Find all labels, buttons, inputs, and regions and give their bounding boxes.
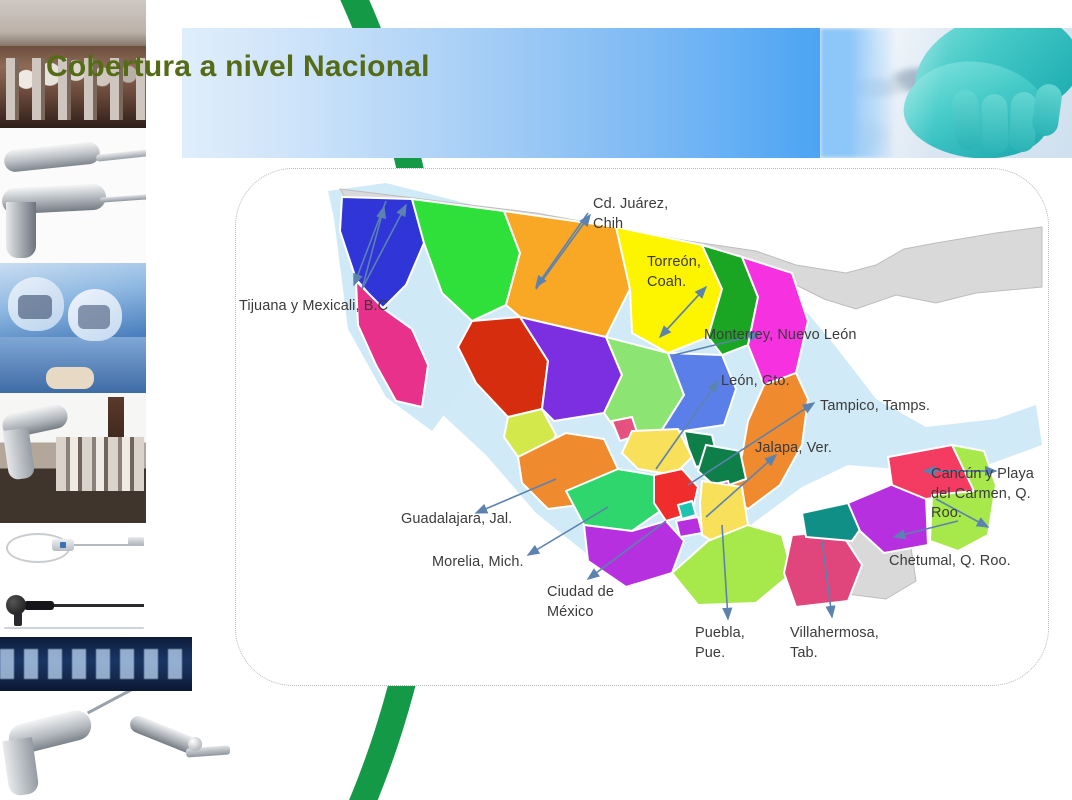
map-label-torreon: Torreón, Coah. [647, 253, 701, 292]
handpieces-bottom-photo [0, 691, 230, 800]
spine-xray-photo [0, 637, 192, 691]
map-content-frame: Tijuana y Mexicali, B.CCd. Juárez, ChihT… [235, 168, 1049, 686]
catheter-line-photo [0, 523, 146, 585]
map-label-cd-juarez: Cd. Juárez, Chih [593, 195, 668, 234]
map-label-ciudad-de-mexico: Ciudad de México [547, 583, 614, 622]
map-label-villahermosa: Villahermosa, Tab. [790, 624, 879, 663]
header-banner [182, 28, 1072, 158]
mexico-coverage-map: Tijuana y Mexicali, B.CCd. Juárez, ChihT… [236, 169, 1048, 685]
drill-and-instruments-photo [0, 393, 146, 523]
map-label-monterrey: Monterrey, Nuevo León [704, 326, 857, 346]
map-label-chetumal: Chetumal, Q. Roo. [889, 552, 1011, 572]
endoscope-photo [0, 585, 146, 637]
map-label-tampico: Tampico, Tamps. [820, 397, 930, 417]
chrome-handpiece-photo [0, 128, 146, 263]
gloved-hands-photo [820, 28, 1072, 158]
map-label-puebla: Puebla, Pue. [695, 624, 745, 663]
slide-root: Cobertura a nivel Nacional [0, 0, 1072, 800]
map-label-leon-gto: León, Gto. [721, 372, 790, 392]
map-label-cancun-playa: Cancún y Playa del Carmen, Q. Roo. [931, 465, 1034, 524]
map-label-guadalajara: Guadalajara, Jal. [401, 510, 512, 530]
surgeons-operating-photo [0, 263, 146, 393]
map-label-tijuana-mexicali: Tijuana y Mexicali, B.C [239, 297, 388, 317]
map-label-morelia: Morelia, Mich. [432, 553, 524, 573]
mexico-map-svg [236, 169, 1048, 685]
map-label-jalapa: Jalapa, Ver. [755, 439, 832, 459]
page-title: Cobertura a nivel Nacional [46, 50, 430, 84]
